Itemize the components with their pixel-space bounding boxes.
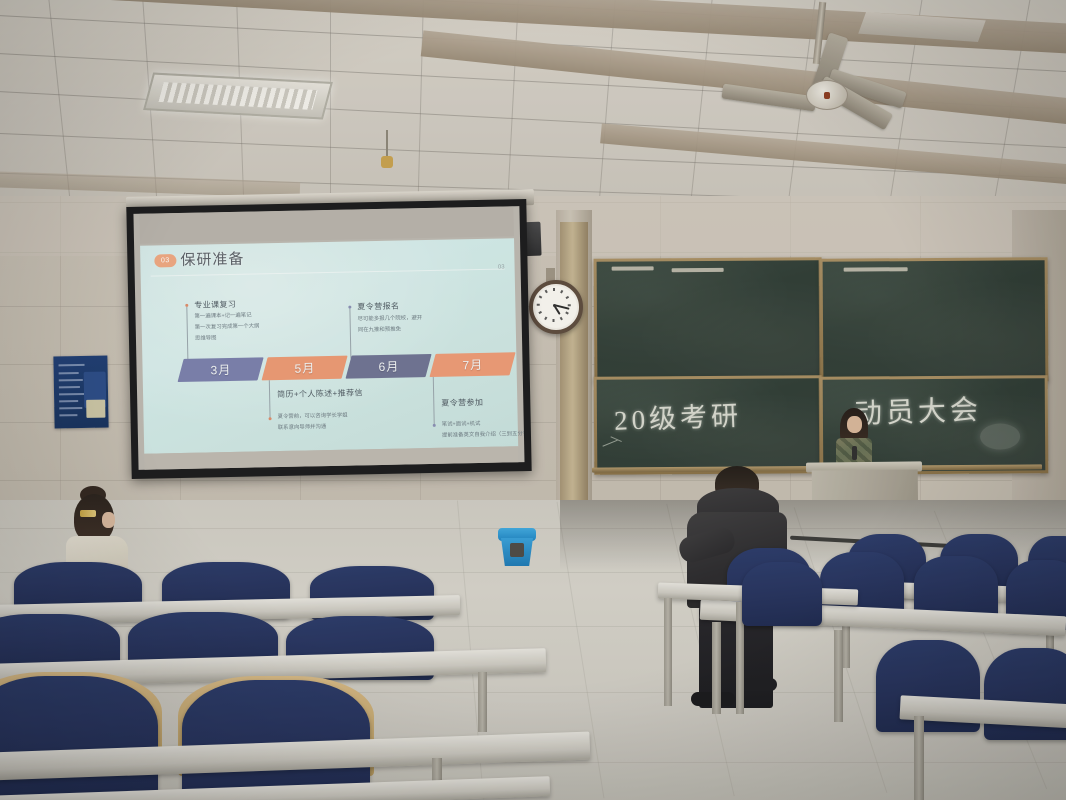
- timeline-marker: [433, 424, 436, 427]
- timeline-month-block: 7月: [429, 352, 515, 377]
- desk-leg: [834, 630, 843, 722]
- callout-line: 同在九推和预推免: [358, 326, 401, 336]
- screen-surface: 03 保研准备 03 专业课复习 第一遍课本+记一遍笔记 第一次复习完成第一个大…: [133, 206, 524, 470]
- timeline-month-block: 5月: [262, 356, 348, 381]
- chalk-doodle: [980, 423, 1020, 449]
- student-face: [102, 512, 115, 528]
- slide-section-badge: 03: [154, 254, 176, 267]
- desk-leg: [478, 672, 487, 732]
- callout-line: 联系意向导师并沟通: [278, 423, 327, 433]
- fan-blade: [721, 84, 816, 112]
- callout-heading: 专业课复习: [194, 299, 236, 311]
- callout-heading: 简历+个人陈述+推荐信: [277, 387, 363, 400]
- callout-line: 第一次复习完成第一个大纲: [195, 322, 260, 332]
- wire-fixture: [381, 156, 393, 168]
- stool-handle-hole: [510, 543, 524, 557]
- hair-clip: [80, 510, 96, 517]
- plastic-stool: [498, 528, 536, 572]
- blackboard-right-text: 动员大会: [853, 388, 982, 432]
- callout-line: 提前准备英文自我介绍（三到五分钟）: [442, 430, 525, 440]
- blackboard-lower-left: 20级考研: [594, 375, 823, 475]
- callout-line: 尽可能多报几个院校，避开: [358, 314, 423, 324]
- callout-line: 思维导图: [195, 334, 217, 343]
- blackboard-surface: [597, 260, 820, 380]
- callout-line: 笔试+面试+机试: [442, 420, 481, 429]
- blackboard-left-text: 20级考研: [613, 394, 743, 438]
- callout-line: 第一遍课本+记一遍笔记: [194, 312, 251, 322]
- presenter-face: [847, 416, 862, 433]
- desk-leg: [664, 598, 672, 706]
- projection-screen: 03 保研准备 03 专业课复习 第一遍课本+记一遍笔记 第一次复习完成第一个大…: [126, 199, 531, 479]
- callout-heading: 夏令营参加: [441, 397, 483, 409]
- month-label: 5月: [294, 359, 315, 376]
- wall-clock: [529, 280, 583, 334]
- month-label: 3月: [210, 361, 231, 378]
- callout-line: 夏令营前，可以咨询学长学姐: [277, 412, 347, 422]
- desk-leg: [914, 716, 924, 800]
- lecture-chair: [742, 562, 822, 626]
- chalk-tray-eraser: [672, 268, 724, 272]
- timeline-marker: [269, 417, 272, 420]
- classroom-photo: 20级考研 动员大会 03 保研准备 03: [0, 0, 1066, 800]
- poster-note: [86, 400, 105, 418]
- timeline-month-block: 3月: [178, 357, 264, 382]
- blackboard-upper-left: [594, 257, 823, 383]
- ceiling-fan: [760, 28, 930, 138]
- callout-heading: 夏令营报名: [357, 301, 399, 313]
- slide-page-number: 03: [498, 264, 505, 270]
- microphone: [852, 446, 857, 460]
- presenter-person: [836, 408, 872, 466]
- presentation-slide: 03 保研准备 03 专业课复习 第一遍课本+记一遍笔记 第一次复习完成第一个大…: [140, 238, 518, 453]
- fan-indicator: [824, 92, 830, 99]
- door-frame: [560, 222, 588, 522]
- chalk-tray-eraser: [612, 266, 654, 270]
- screen-blank-top: [139, 206, 514, 244]
- wall-notice-board: [53, 356, 108, 429]
- month-label: 6月: [378, 358, 399, 375]
- fluorescent-light-panel: [143, 73, 333, 120]
- ceiling: [0, 0, 1066, 210]
- blackboard-surface: [823, 260, 1046, 380]
- chalk-tray-eraser: [844, 267, 908, 271]
- month-label: 7月: [462, 356, 483, 373]
- lecture-chair: [0, 676, 158, 800]
- blackboard-upper-right: [820, 257, 1049, 383]
- desk-leg: [712, 622, 721, 714]
- slide-title: 保研准备: [180, 248, 244, 270]
- timeline-month-block: 6月: [346, 354, 432, 379]
